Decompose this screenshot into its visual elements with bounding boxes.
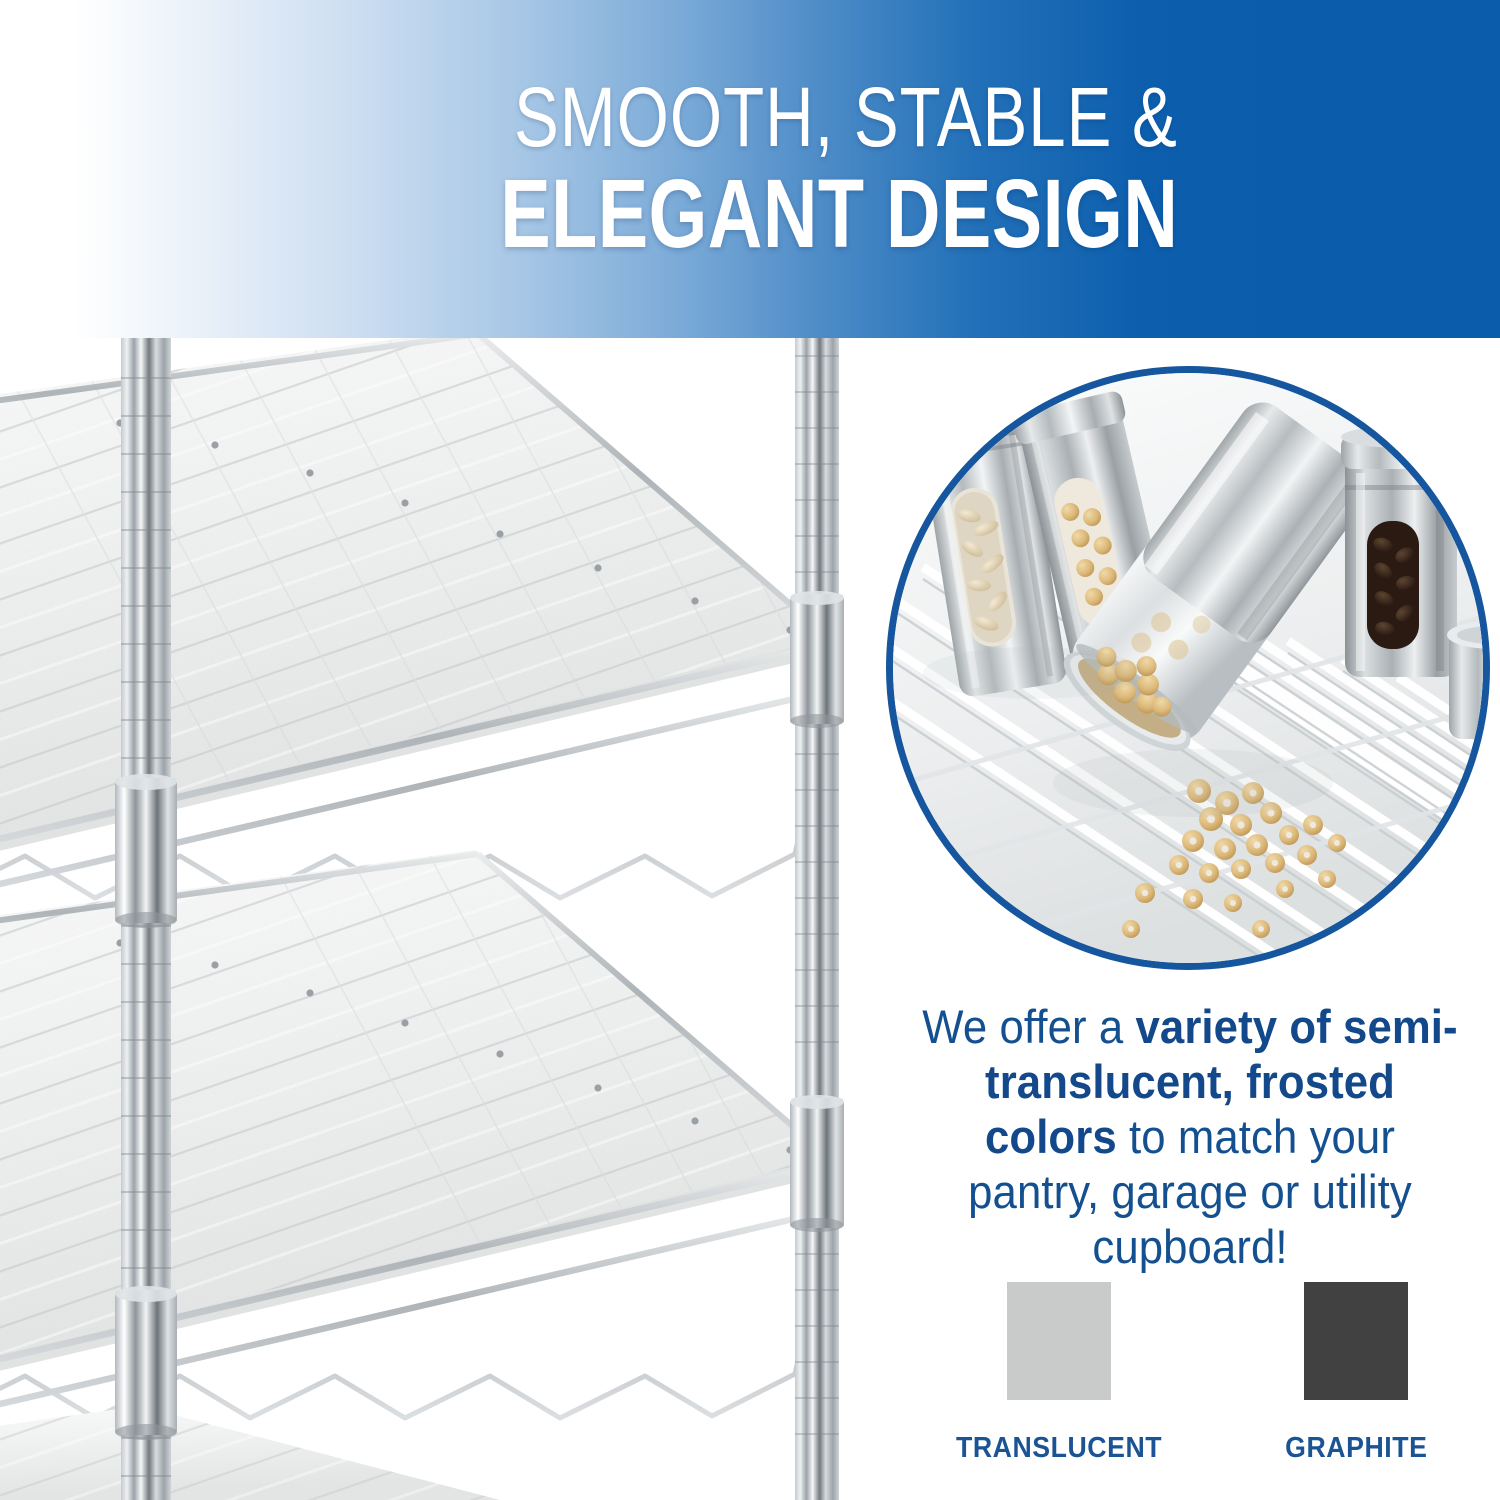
swatch-chip-graphite[interactable] [1304,1282,1408,1400]
swatch-option-graphite[interactable]: GRAPHITE [1279,1282,1434,1465]
inset-photo-canisters [886,366,1490,970]
blurb-part-1: We offer a [922,1000,1135,1053]
shelving-pole-right [790,338,844,1500]
shelving-pole-left [115,338,177,1500]
swatch-label-graphite: GRAPHITE [1285,1432,1427,1465]
header-banner: SMOOTH, STABLE & ELEGANT DESIGN [0,0,1500,338]
canister-coffee-beans [1341,426,1461,677]
product-feature-image: SMOOTH, STABLE & ELEGANT DESIGN [0,0,1500,1500]
swatch-chip-translucent[interactable] [1007,1282,1111,1400]
headline-line-2: ELEGANT DESIGN [500,165,1178,262]
swatch-label-translucent: TRANSLUCENT [956,1432,1162,1465]
canisters-illustration [893,373,1483,963]
header-title-block: SMOOTH, STABLE & ELEGANT DESIGN [0,0,1500,338]
feature-description-text: We offer a variety of semi-translucent, … [920,1000,1459,1275]
product-photo-shelving [0,338,900,1500]
feature-description-block: We offer a variety of semi-translucent, … [900,1000,1480,1275]
color-swatch-row: TRANSLUCENT GRAPHITE [900,1282,1480,1465]
shelving-illustration [0,338,900,1500]
swatch-option-translucent[interactable]: TRANSLUCENT [947,1282,1171,1465]
headline-line-1: SMOOTH, STABLE & [514,76,1178,158]
canister-lid-right [1447,621,1483,739]
